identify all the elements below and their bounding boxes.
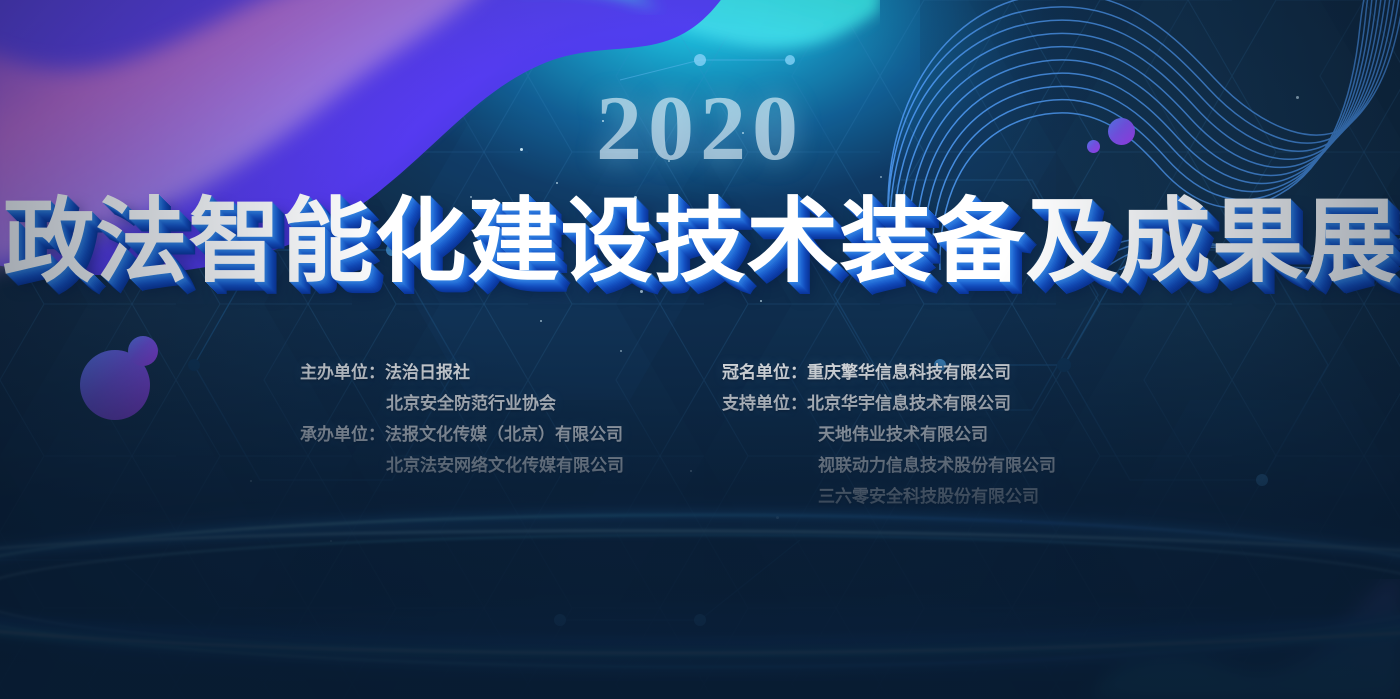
event-poster: 2020 政法智能化建设技术装备及成果展 主办单位：法治日报社 北京安全防范行业…	[0, 0, 1400, 699]
background-vignette	[0, 0, 1400, 699]
